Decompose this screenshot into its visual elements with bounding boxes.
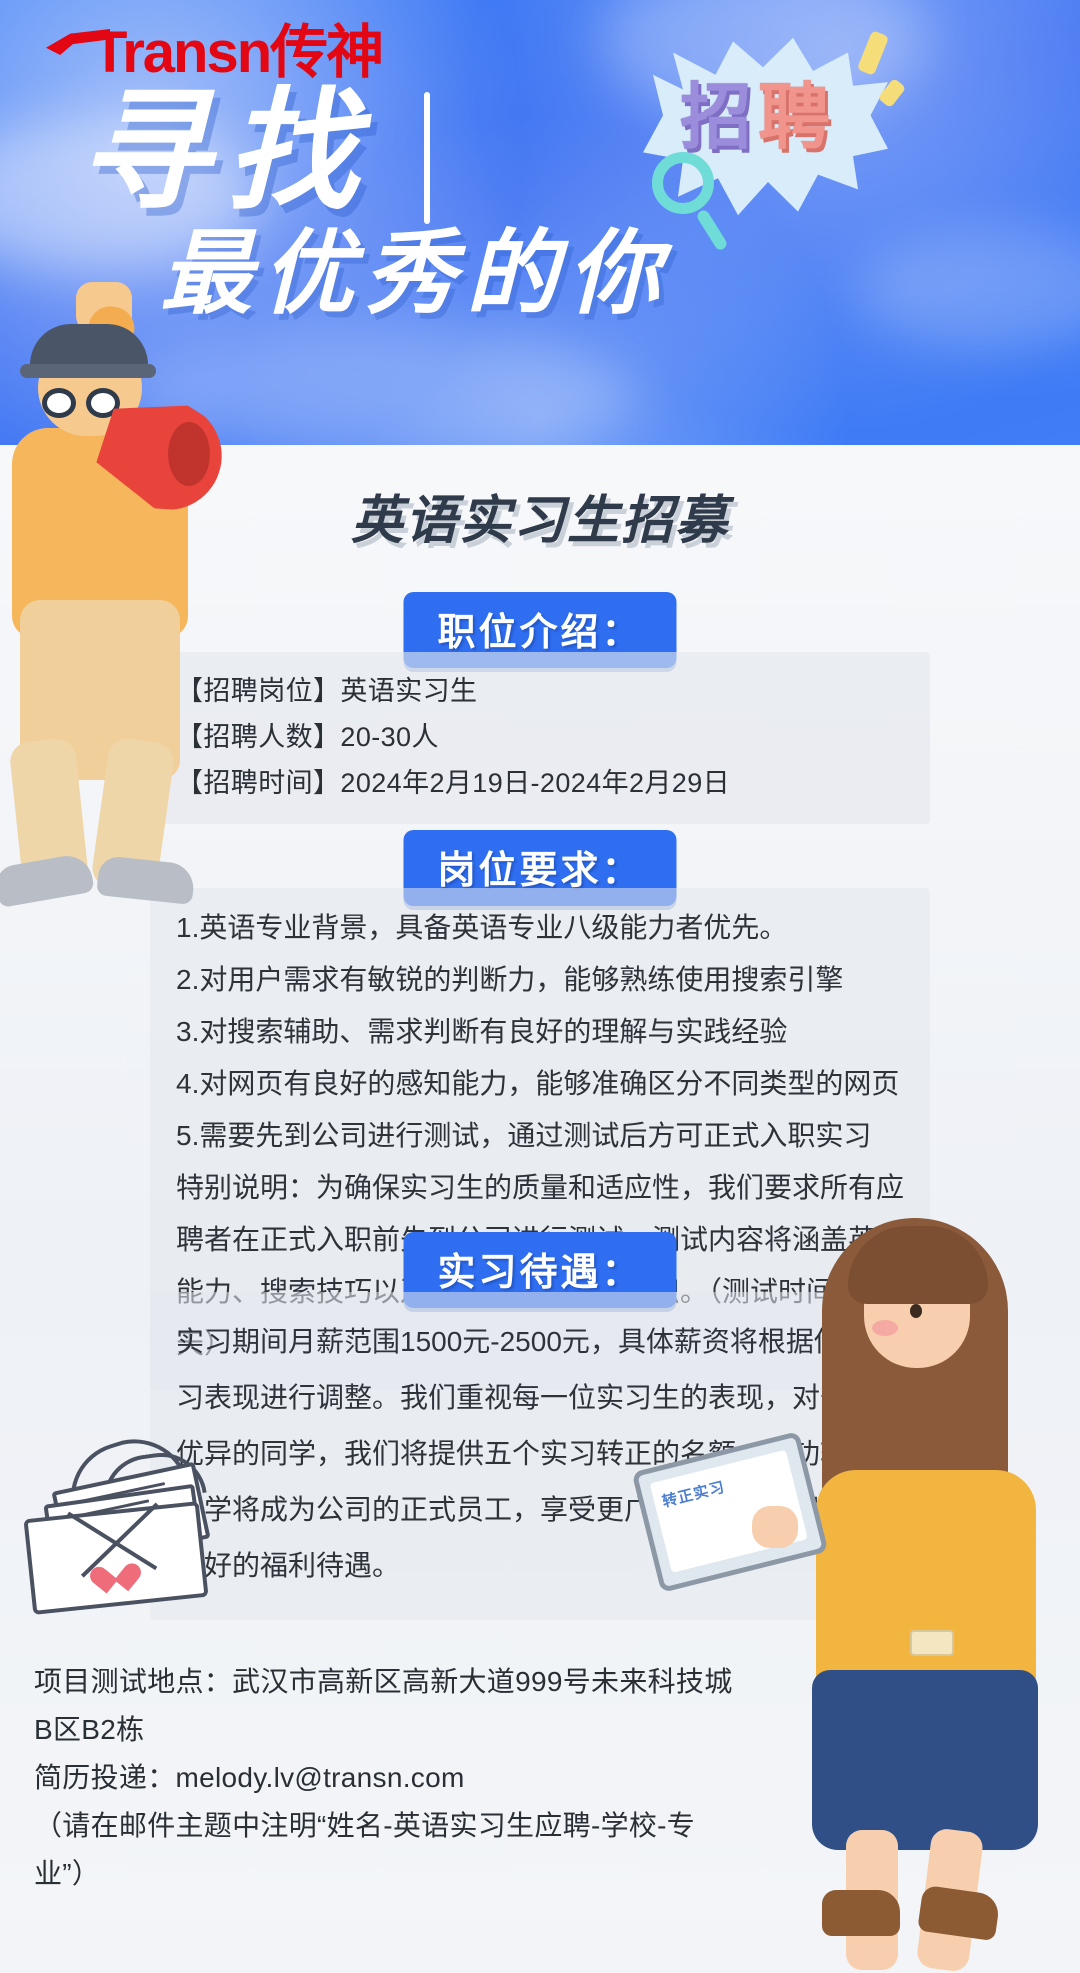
shoe-shape — [96, 855, 196, 905]
cheek-blush-shape — [872, 1320, 898, 1336]
recruitment-badge-graphic: 招 聘 — [638, 24, 898, 234]
name-tag-shape — [910, 1630, 954, 1656]
boot-shape — [822, 1890, 900, 1936]
skirt-shape — [812, 1670, 1038, 1850]
winged-envelope-illustration — [14, 1448, 264, 1608]
requirement-item: 2.对用户需求有敏锐的判断力，能够熟练使用搜索引擎 — [176, 954, 904, 1006]
magnifier-handle-icon — [695, 208, 728, 252]
requirement-item: 4.对网页有良好的感知能力，能够准确区分不同类型的网页 — [176, 1058, 904, 1110]
section-badge-label: 职位介绍： — [437, 612, 642, 654]
glasses-icon — [42, 388, 76, 418]
magnifier-icon — [652, 152, 714, 214]
hand-shape — [752, 1506, 798, 1548]
cloud-decoration — [860, 230, 1080, 350]
requirement-item: 5.需要先到公司进行测试，通过测试后方可正式入职实习 — [176, 1110, 904, 1162]
footer-email[interactable]: 简历投递：melody.lv@transn.com — [34, 1754, 734, 1802]
eye-shape — [910, 1304, 922, 1318]
footer-subject-note: （请在邮件主题中注明“姓名-英语实习生应聘-学校-专业”） — [34, 1802, 734, 1898]
megaphone-character-illustration — [0, 300, 290, 920]
spark-icon — [857, 30, 889, 76]
badge-char-pin: 聘 — [758, 82, 830, 154]
hero-headline-primary: 寻找 — [78, 86, 374, 218]
cap-brim-shape — [20, 364, 156, 378]
megaphone-mouth-shape — [168, 422, 210, 486]
footer-contact: 项目测试地点：武汉市高新区高新大道999号未来科技城B区B2栋 简历投递：mel… — [34, 1658, 734, 1898]
section-badge-label: 岗位要求： — [437, 850, 642, 892]
section-badge-label: 实习待遇： — [437, 1252, 642, 1294]
tablet-character-illustration: 转正实习 — [760, 1200, 1080, 1920]
headline-divider — [424, 92, 430, 224]
heart-icon — [101, 1559, 134, 1590]
footer-address: 项目测试地点：武汉市高新区高新大道999号未来科技城B区B2栋 — [34, 1658, 734, 1754]
badge-char-zhao: 招 — [680, 82, 752, 154]
brand-logo-text: Transn传神 — [92, 24, 382, 82]
shoe-shape — [0, 852, 95, 908]
requirement-item: 3.对搜索辅助、需求判断有良好的理解与实践经验 — [176, 1006, 904, 1058]
brand-logo: Transn传神 — [46, 24, 382, 82]
